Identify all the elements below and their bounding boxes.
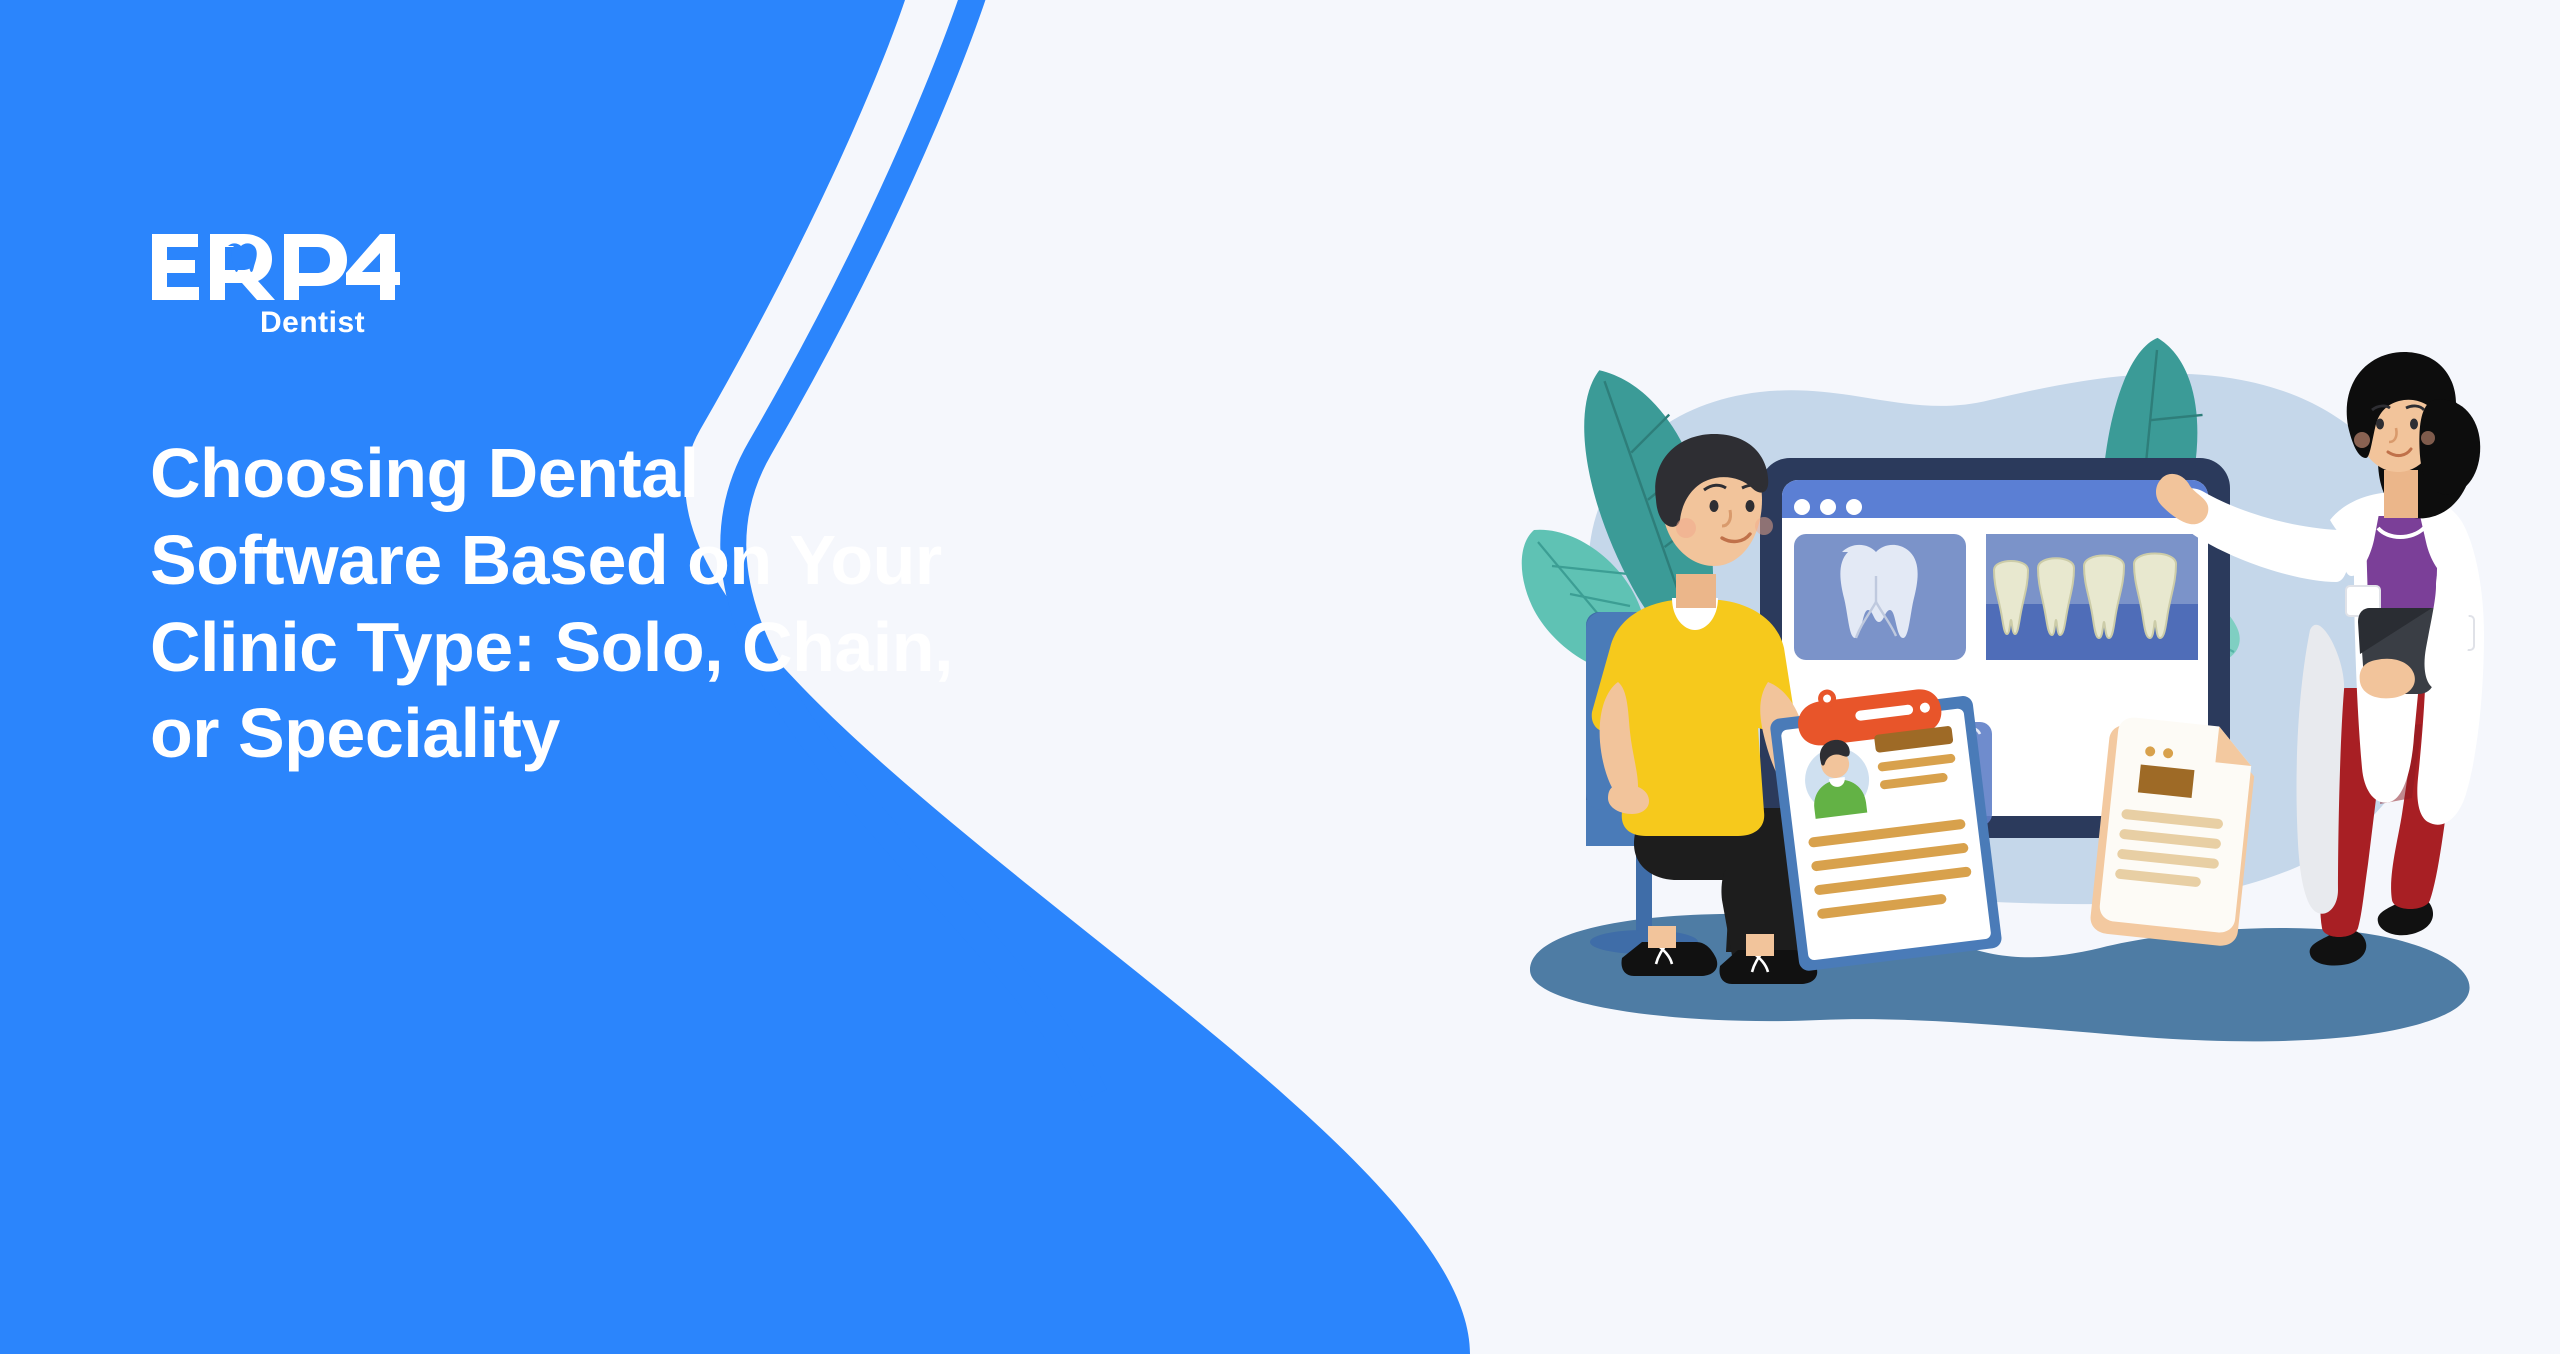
logo-letter-e (152, 234, 199, 300)
hero-banner: Dentist Choosing Dental Software Based o… (0, 0, 2560, 1354)
clipboard (1766, 672, 2002, 972)
patient-neck (1676, 574, 1716, 608)
logo-wordmark-svg (150, 232, 400, 304)
monitor-titlebar-dots (1794, 499, 1862, 515)
document-sheet (2089, 715, 2259, 947)
logo-tooth-icon (228, 243, 257, 272)
logo-letter-4 (346, 234, 400, 300)
window-dot-3 (1846, 499, 1862, 515)
xray-tooth-row (1986, 534, 2198, 660)
logo-wordmark (150, 232, 400, 304)
page-title-line-1: Choosing Dental (150, 430, 1330, 517)
page-title-line-4: or Speciality (150, 690, 1330, 777)
xray-single-tooth (1794, 534, 1966, 660)
window-dot-1 (1794, 499, 1810, 515)
page-title-line-2: Software Based on Your (150, 517, 1330, 604)
logo-subtitle: Dentist (260, 308, 365, 338)
logo-letter-p (284, 234, 347, 300)
dentist-neck (2384, 470, 2418, 518)
hero-illustration-svg (1490, 330, 2550, 1050)
hero-illustration (1490, 330, 2550, 1050)
dentist-hand-holding (2360, 659, 2415, 699)
dentist-ponytail (2419, 399, 2480, 494)
monitor-titlebar (1782, 480, 2208, 518)
window-dot-2 (1820, 499, 1836, 515)
document-block (2138, 764, 2195, 797)
page-title-line-3: Clinic Type: Solo, Chain, (150, 604, 1330, 691)
page-title: Choosing Dental Software Based on Your C… (150, 430, 1330, 777)
logo[interactable]: Dentist (150, 232, 470, 362)
